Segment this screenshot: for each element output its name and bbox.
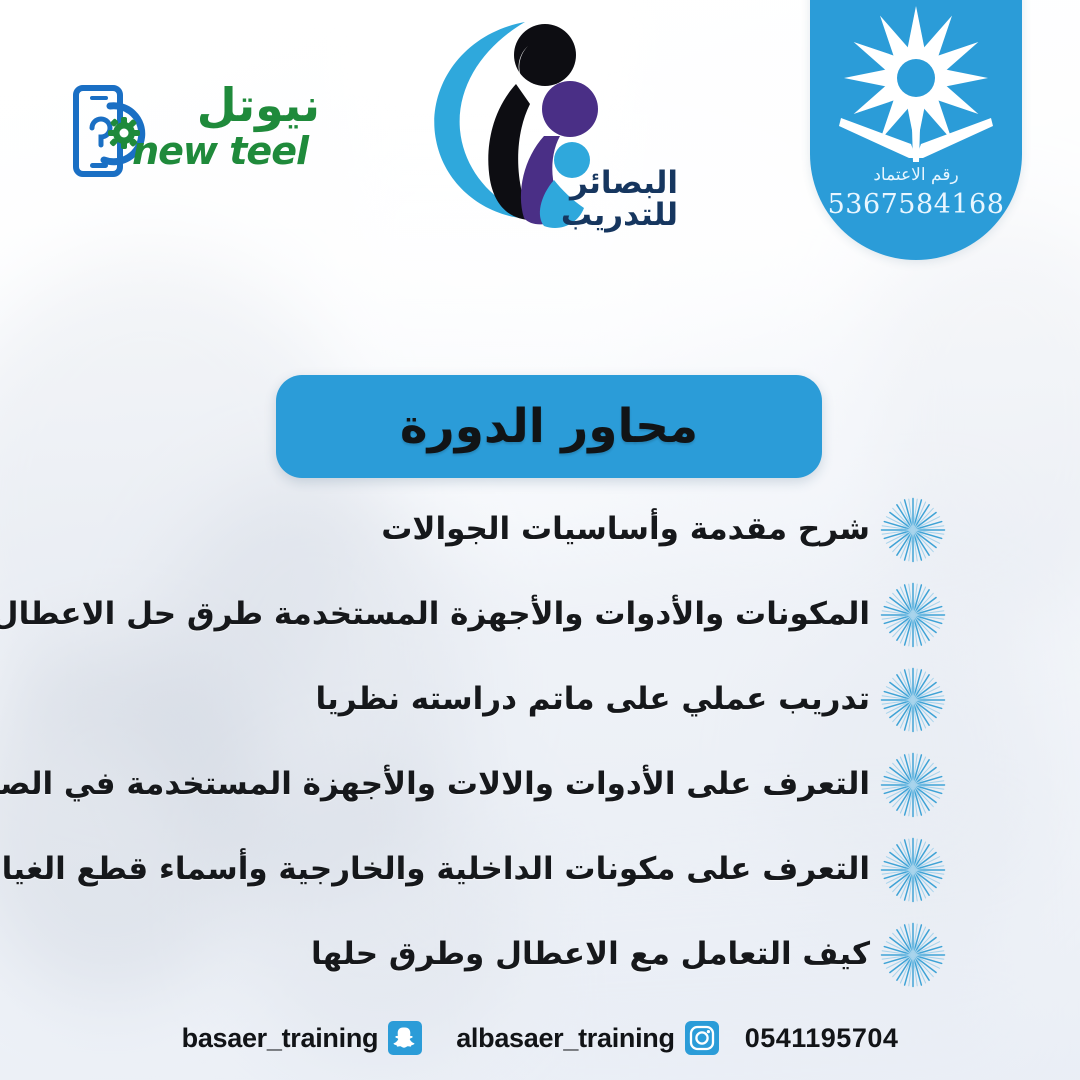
topic-label: تدريب عملي على ماتم دراسته نظريا <box>316 681 871 718</box>
list-item: التعرف على الأدوات والالات والأجهزة المس… <box>0 742 1080 827</box>
topic-label: التعرف على الأدوات والالات والأجهزة المس… <box>0 766 870 803</box>
accreditation-number: 5367584168 <box>810 189 1022 220</box>
snapchat-handle: basaer_training <box>182 1023 379 1054</box>
topic-label: شرح مقدمة وأساسيات الجوالات <box>381 511 870 548</box>
snapchat-icon[interactable] <box>388 1021 422 1055</box>
poster-canvas: نيوتل new teel البصائر للتدريب <box>0 0 1080 1080</box>
accreditation-caption: رقم الاعتماد 5367584168 <box>810 166 1022 220</box>
center-logo-text: البصائر للتدريب <box>561 167 678 231</box>
page-title: محاور الدورة <box>400 399 698 454</box>
starburst-firework-icon <box>878 835 948 905</box>
footer-contact-bar: basaer_training albasaer_training 054119… <box>0 1014 1080 1062</box>
list-item: تدريب عملي على ماتم دراسته نظريا <box>0 657 1080 742</box>
list-item: كيف التعامل مع الاعطال وطرق حلها <box>0 912 1080 997</box>
instagram-handle: albasaer_training <box>456 1023 675 1054</box>
topic-label: كيف التعامل مع الاعطال وطرق حلها <box>311 936 870 973</box>
partner-logo-arabic: نيوتل <box>197 82 320 128</box>
instagram-icon[interactable] <box>685 1021 719 1055</box>
starburst-firework-icon <box>878 580 948 650</box>
list-item: المكونات والأدوات والأجهزة المستخدمة طرق… <box>0 572 1080 657</box>
starburst-firework-icon <box>878 920 948 990</box>
accreditation-label: رقم الاعتماد <box>810 166 1022 185</box>
instagram-contact[interactable]: albasaer_training <box>456 1021 719 1055</box>
center-logo-line1: البصائر <box>561 167 678 199</box>
starburst-firework-icon <box>878 750 948 820</box>
phone-number[interactable]: 0541195704 <box>745 1023 899 1054</box>
snapchat-contact[interactable]: basaer_training <box>182 1021 423 1055</box>
accreditation-badge: رقم الاعتماد 5367584168 <box>810 0 1022 260</box>
partner-logo-latin: new teel <box>132 132 308 170</box>
topics-list: شرح مقدمة وأساسيات الجوالات <box>0 487 1080 997</box>
tvtc-starburst-emblem <box>831 0 1001 166</box>
list-item: شرح مقدمة وأساسيات الجوالات <box>0 487 1080 572</box>
list-item: التعرف على مكونات الداخلية والخارجية وأس… <box>0 827 1080 912</box>
center-logo-albasaer: البصائر للتدريب <box>420 12 680 237</box>
starburst-firework-icon <box>878 495 948 565</box>
title-banner: محاور الدورة <box>276 375 822 478</box>
partner-logo-newteel: نيوتل new teel <box>72 78 320 188</box>
topic-label: التعرف على مكونات الداخلية والخارجية وأس… <box>0 851 870 888</box>
center-logo-line2: للتدريب <box>561 199 678 231</box>
starburst-firework-icon <box>878 665 948 735</box>
topic-label: المكونات والأدوات والأجهزة المستخدمة طرق… <box>0 596 870 633</box>
